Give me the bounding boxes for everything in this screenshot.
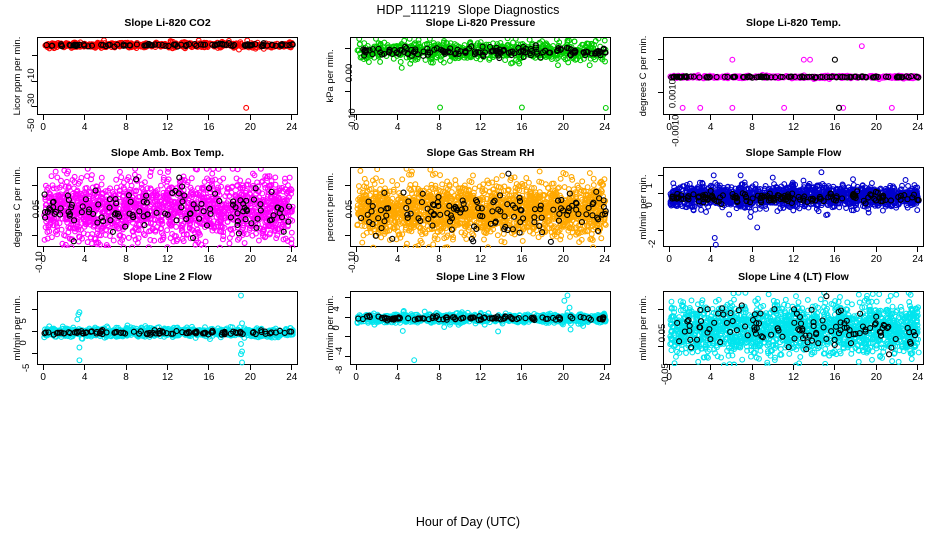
scatter-canvas-2 — [664, 38, 925, 116]
y-tick-mark — [345, 91, 350, 92]
x-tick-label: 16 — [507, 254, 537, 265]
x-tick-label: 8 — [424, 254, 454, 265]
x-tick-mark — [752, 247, 753, 252]
x-tick-label: 0 — [28, 254, 58, 265]
x-tick-mark — [84, 115, 85, 120]
outlier-point — [832, 57, 837, 62]
outlier-point — [75, 317, 80, 322]
y-axis-label-6: ml/min per min. — [12, 296, 23, 361]
x-tick-mark — [439, 365, 440, 370]
x-tick-label: 0 — [341, 372, 371, 383]
panel-title-7: Slope Line 3 Flow — [350, 271, 611, 283]
plot-area-5 — [663, 167, 924, 247]
x-tick-mark — [710, 115, 711, 120]
outlier-point — [565, 293, 570, 298]
x-tick-mark — [876, 247, 877, 252]
y-tick-label: -5 — [21, 363, 32, 371]
outlier-point — [889, 105, 894, 110]
x-tick-label: 20 — [235, 254, 265, 265]
x-tick-mark — [167, 115, 168, 120]
series-slope-3 — [42, 168, 295, 248]
x-tick-mark — [250, 115, 251, 120]
x-tick-label: 16 — [507, 122, 537, 133]
outlier-point — [568, 327, 573, 332]
y-tick-label: 0.05 — [31, 200, 42, 219]
x-tick-mark — [126, 247, 127, 252]
scatter-canvas-3 — [38, 168, 299, 248]
x-tick-label: 8 — [737, 372, 767, 383]
x-tick-label: 8 — [424, 372, 454, 383]
x-tick-mark — [834, 247, 835, 252]
outlier-point — [412, 358, 417, 363]
y-tick-mark — [658, 309, 663, 310]
x-tick-mark — [291, 115, 292, 120]
panel-title-0: Slope Li-820 CO2 — [37, 17, 298, 29]
x-tick-label: 12 — [153, 254, 183, 265]
panel-title-6: Slope Line 2 Flow — [37, 271, 298, 283]
x-tick-label: 4 — [696, 372, 726, 383]
panel-8: Slope Line 4 (LT) Flow-0.050.05ml/min pe… — [629, 273, 926, 387]
panel-2: Slope Li-820 Temp.-0.00100.0010degrees C… — [629, 19, 926, 137]
x-tick-mark — [208, 247, 209, 252]
outlier-point — [713, 242, 718, 247]
y-tick-mark — [32, 235, 37, 236]
y-axis-label-5: ml/min per min. — [638, 175, 649, 240]
outlier-point — [400, 329, 405, 334]
y-tick-label: 0.00 — [344, 64, 355, 83]
scatter-canvas-1 — [351, 38, 612, 116]
y-axis-label-3: degrees C per min. — [12, 167, 23, 248]
y-tick-mark — [345, 297, 350, 298]
x-tick-mark — [563, 115, 564, 120]
panel-title-2: Slope Li-820 Temp. — [663, 17, 924, 29]
y-tick-label: -2 — [647, 240, 658, 248]
panel-title-4: Slope Gas Stream RH — [350, 147, 611, 159]
x-tick-mark — [43, 365, 44, 370]
x-tick-label: 0 — [28, 122, 58, 133]
x-tick-mark — [521, 247, 522, 252]
outlier-point — [712, 235, 717, 240]
outlier-point — [711, 173, 716, 178]
y-tick-mark — [32, 309, 37, 310]
outlier-point — [77, 345, 82, 350]
x-tick-label: 20 — [548, 372, 578, 383]
outlier-point — [819, 170, 824, 175]
x-tick-label: 20 — [861, 372, 891, 383]
x-tick-mark — [669, 365, 670, 370]
outlier-point — [567, 305, 572, 310]
outlier-point — [240, 360, 245, 365]
plot-area-7 — [350, 291, 611, 365]
x-tick-label: 0 — [28, 372, 58, 383]
x-tick-mark — [208, 115, 209, 120]
x-tick-label: 4 — [70, 372, 100, 383]
x-tick-label: 24 — [590, 372, 620, 383]
x-tick-mark — [710, 247, 711, 252]
panel-7: Slope Line 3 Flow-8-404ml/min per min.04… — [316, 273, 613, 387]
x-tick-mark — [167, 365, 168, 370]
y-axis-label-2: degrees C per min. — [638, 36, 649, 117]
x-tick-label: 12 — [779, 122, 809, 133]
x-tick-label: 8 — [737, 122, 767, 133]
outlier-point — [603, 106, 608, 111]
x-tick-mark — [250, 365, 251, 370]
y-tick-mark — [32, 55, 37, 56]
y-tick-mark — [658, 92, 663, 93]
outlier-point — [782, 105, 787, 110]
y-axis-label-1: kPa per min. — [325, 49, 336, 102]
outlier-point — [755, 225, 760, 230]
figure-xlabel: Hour of Day (UTC) — [0, 515, 936, 529]
x-tick-label: 16 — [507, 372, 537, 383]
scatter-canvas-6 — [38, 292, 299, 366]
x-tick-mark — [669, 247, 670, 252]
x-tick-mark — [480, 247, 481, 252]
y-tick-label: 0.0010 — [668, 79, 679, 108]
outlier-point — [859, 44, 864, 49]
x-tick-mark — [710, 365, 711, 370]
x-tick-mark — [126, 365, 127, 370]
x-tick-mark — [439, 115, 440, 120]
x-tick-mark — [291, 365, 292, 370]
x-tick-mark — [604, 365, 605, 370]
x-tick-label: 20 — [548, 254, 578, 265]
x-tick-label: 20 — [235, 372, 265, 383]
x-tick-label: 0 — [654, 254, 684, 265]
plot-area-3 — [37, 167, 298, 247]
outlier-point — [399, 65, 404, 70]
plot-area-2 — [663, 37, 924, 115]
x-tick-label: 4 — [383, 372, 413, 383]
x-tick-label: 0 — [341, 122, 371, 133]
x-tick-label: 24 — [277, 254, 307, 265]
x-tick-mark — [43, 247, 44, 252]
x-tick-label: 20 — [235, 122, 265, 133]
x-tick-label: 4 — [383, 122, 413, 133]
x-tick-label: 24 — [277, 372, 307, 383]
x-tick-label: 24 — [590, 254, 620, 265]
x-tick-mark — [291, 247, 292, 252]
y-tick-mark — [345, 356, 350, 357]
x-tick-mark — [480, 365, 481, 370]
x-tick-label: 16 — [194, 254, 224, 265]
x-tick-mark — [126, 115, 127, 120]
plot-area-0 — [37, 37, 298, 115]
y-tick-mark — [32, 185, 37, 186]
scatter-canvas-7 — [351, 292, 612, 366]
y-axis-label-7: ml/min per min. — [325, 296, 336, 361]
outlier-point — [730, 105, 735, 110]
x-tick-label: 24 — [903, 122, 933, 133]
x-tick-mark — [439, 247, 440, 252]
x-tick-label: 4 — [696, 122, 726, 133]
diagnostics-figure: HDP_111219 Slope Diagnostics Hour of Day… — [0, 0, 936, 540]
y-tick-label: 0.05 — [344, 200, 355, 219]
x-tick-mark — [669, 115, 670, 120]
x-tick-label: 4 — [383, 254, 413, 265]
x-tick-mark — [834, 365, 835, 370]
x-tick-mark — [84, 247, 85, 252]
x-tick-label: 12 — [153, 122, 183, 133]
scatter-canvas-4 — [351, 168, 612, 248]
plot-area-1 — [350, 37, 611, 115]
panel-1: Slope Li-820 Pressure-0.100.00kPa per mi… — [316, 19, 613, 137]
x-tick-label: 12 — [466, 372, 496, 383]
x-tick-label: 12 — [779, 254, 809, 265]
x-tick-mark — [917, 365, 918, 370]
y-tick-mark — [345, 185, 350, 186]
scatter-canvas-5 — [664, 168, 925, 248]
panel-title-8: Slope Line 4 (LT) Flow — [663, 271, 924, 283]
y-tick-mark — [32, 353, 37, 354]
outlier-point — [239, 293, 244, 298]
x-tick-label: 0 — [654, 122, 684, 133]
x-tick-mark — [604, 115, 605, 120]
x-tick-label: 12 — [779, 372, 809, 383]
y-axis-label-4: percent per min. — [325, 173, 336, 242]
x-tick-label: 8 — [111, 122, 141, 133]
figure-title: HDP_111219 Slope Diagnostics — [0, 3, 936, 17]
scatter-canvas-0 — [38, 38, 299, 116]
outlier-point — [442, 325, 447, 330]
x-tick-mark — [563, 365, 564, 370]
plot-area-6 — [37, 291, 298, 365]
x-tick-mark — [356, 247, 357, 252]
x-tick-label: 16 — [194, 372, 224, 383]
plot-area-8 — [663, 291, 924, 365]
x-tick-mark — [397, 247, 398, 252]
y-tick-mark — [345, 317, 350, 318]
x-tick-label: 16 — [820, 122, 850, 133]
panel-4: Slope Gas Stream RH-0.100.05percent per … — [316, 149, 613, 269]
x-tick-mark — [167, 247, 168, 252]
x-tick-label: 20 — [861, 122, 891, 133]
y-tick-mark — [345, 48, 350, 49]
panel-5: Slope Sample Flow-201ml/min per min.0481… — [629, 149, 926, 269]
x-tick-label: 16 — [820, 372, 850, 383]
outlier-point — [562, 298, 567, 303]
series-slope-5 — [668, 170, 921, 247]
outlier-point — [738, 173, 743, 178]
y-tick-mark — [658, 175, 663, 176]
x-tick-mark — [84, 365, 85, 370]
series-slope-7 — [355, 293, 608, 363]
outlier-point — [438, 105, 443, 110]
outlier-point — [158, 170, 163, 175]
outlier-point — [808, 57, 813, 62]
y-tick-label: -10 — [26, 68, 37, 82]
x-tick-label: 8 — [737, 254, 767, 265]
x-tick-mark — [793, 247, 794, 252]
x-tick-label: 24 — [903, 372, 933, 383]
outlier-point — [865, 293, 870, 298]
outlier-point — [602, 38, 607, 43]
x-tick-mark — [521, 115, 522, 120]
x-tick-mark — [397, 115, 398, 120]
y-tick-mark — [32, 331, 37, 332]
x-tick-label: 12 — [153, 372, 183, 383]
x-tick-mark — [834, 115, 835, 120]
x-tick-mark — [563, 247, 564, 252]
x-tick-label: 0 — [341, 254, 371, 265]
x-tick-label: 12 — [466, 254, 496, 265]
x-tick-mark — [793, 115, 794, 120]
x-tick-mark — [876, 365, 877, 370]
panel-0: Slope Li-820 CO2-50-30-10Licor ppm per m… — [3, 19, 300, 137]
outlier-point — [239, 342, 244, 347]
x-tick-label: 0 — [654, 372, 684, 383]
x-tick-label: 8 — [424, 122, 454, 133]
x-tick-label: 12 — [466, 122, 496, 133]
outlier-point — [244, 105, 249, 110]
scatter-canvas-8 — [664, 292, 925, 366]
x-tick-mark — [208, 365, 209, 370]
x-tick-mark — [917, 247, 918, 252]
panel-3: Slope Amb. Box Temp.-0.100.05degrees C p… — [3, 149, 300, 269]
x-tick-label: 24 — [277, 122, 307, 133]
y-tick-label: 0.05 — [657, 324, 668, 343]
x-tick-label: 8 — [111, 372, 141, 383]
outlier-point — [730, 57, 735, 62]
panel-title-3: Slope Amb. Box Temp. — [37, 147, 298, 159]
outlier-point — [77, 358, 82, 363]
outlier-point — [496, 329, 501, 334]
x-tick-label: 8 — [111, 254, 141, 265]
y-tick-mark — [345, 235, 350, 236]
outlier-point — [398, 59, 403, 64]
y-axis-label-0: Licor ppm per min. — [12, 37, 23, 116]
y-tick-mark — [658, 193, 663, 194]
x-tick-label: 16 — [820, 254, 850, 265]
y-tick-mark — [345, 336, 350, 337]
x-tick-mark — [752, 365, 753, 370]
x-tick-mark — [356, 365, 357, 370]
x-tick-mark — [480, 115, 481, 120]
x-tick-mark — [793, 365, 794, 370]
x-tick-label: 4 — [70, 122, 100, 133]
x-tick-mark — [752, 115, 753, 120]
y-axis-label-8: ml/min per min. — [638, 296, 649, 361]
plot-area-4 — [350, 167, 611, 247]
x-tick-label: 20 — [861, 254, 891, 265]
panel-6: Slope Line 2 Flow-505ml/min per min.0481… — [3, 273, 300, 387]
y-tick-label: -30 — [26, 93, 37, 107]
outlier-point — [680, 105, 685, 110]
x-tick-mark — [356, 115, 357, 120]
x-tick-mark — [604, 247, 605, 252]
x-tick-mark — [250, 247, 251, 252]
y-tick-mark — [658, 59, 663, 60]
series-slope-8 — [668, 292, 921, 366]
x-tick-mark — [521, 365, 522, 370]
outlier-point — [506, 171, 511, 176]
x-tick-mark — [876, 115, 877, 120]
outlier-point — [801, 57, 806, 62]
x-tick-label: 24 — [903, 254, 933, 265]
outlier-point — [519, 105, 524, 110]
x-tick-mark — [43, 115, 44, 120]
x-tick-label: 16 — [194, 122, 224, 133]
x-tick-label: 4 — [70, 254, 100, 265]
series-hourly-overlay-2 — [669, 57, 921, 110]
x-tick-mark — [917, 115, 918, 120]
y-tick-mark — [658, 230, 663, 231]
panel-title-5: Slope Sample Flow — [663, 147, 924, 159]
x-tick-label: 4 — [696, 254, 726, 265]
x-tick-label: 20 — [548, 122, 578, 133]
panel-title-1: Slope Li-820 Pressure — [350, 17, 611, 29]
x-tick-label: 24 — [590, 122, 620, 133]
x-tick-mark — [397, 365, 398, 370]
outlier-point — [240, 321, 245, 326]
y-tick-mark — [658, 346, 663, 347]
outlier-point — [698, 105, 703, 110]
